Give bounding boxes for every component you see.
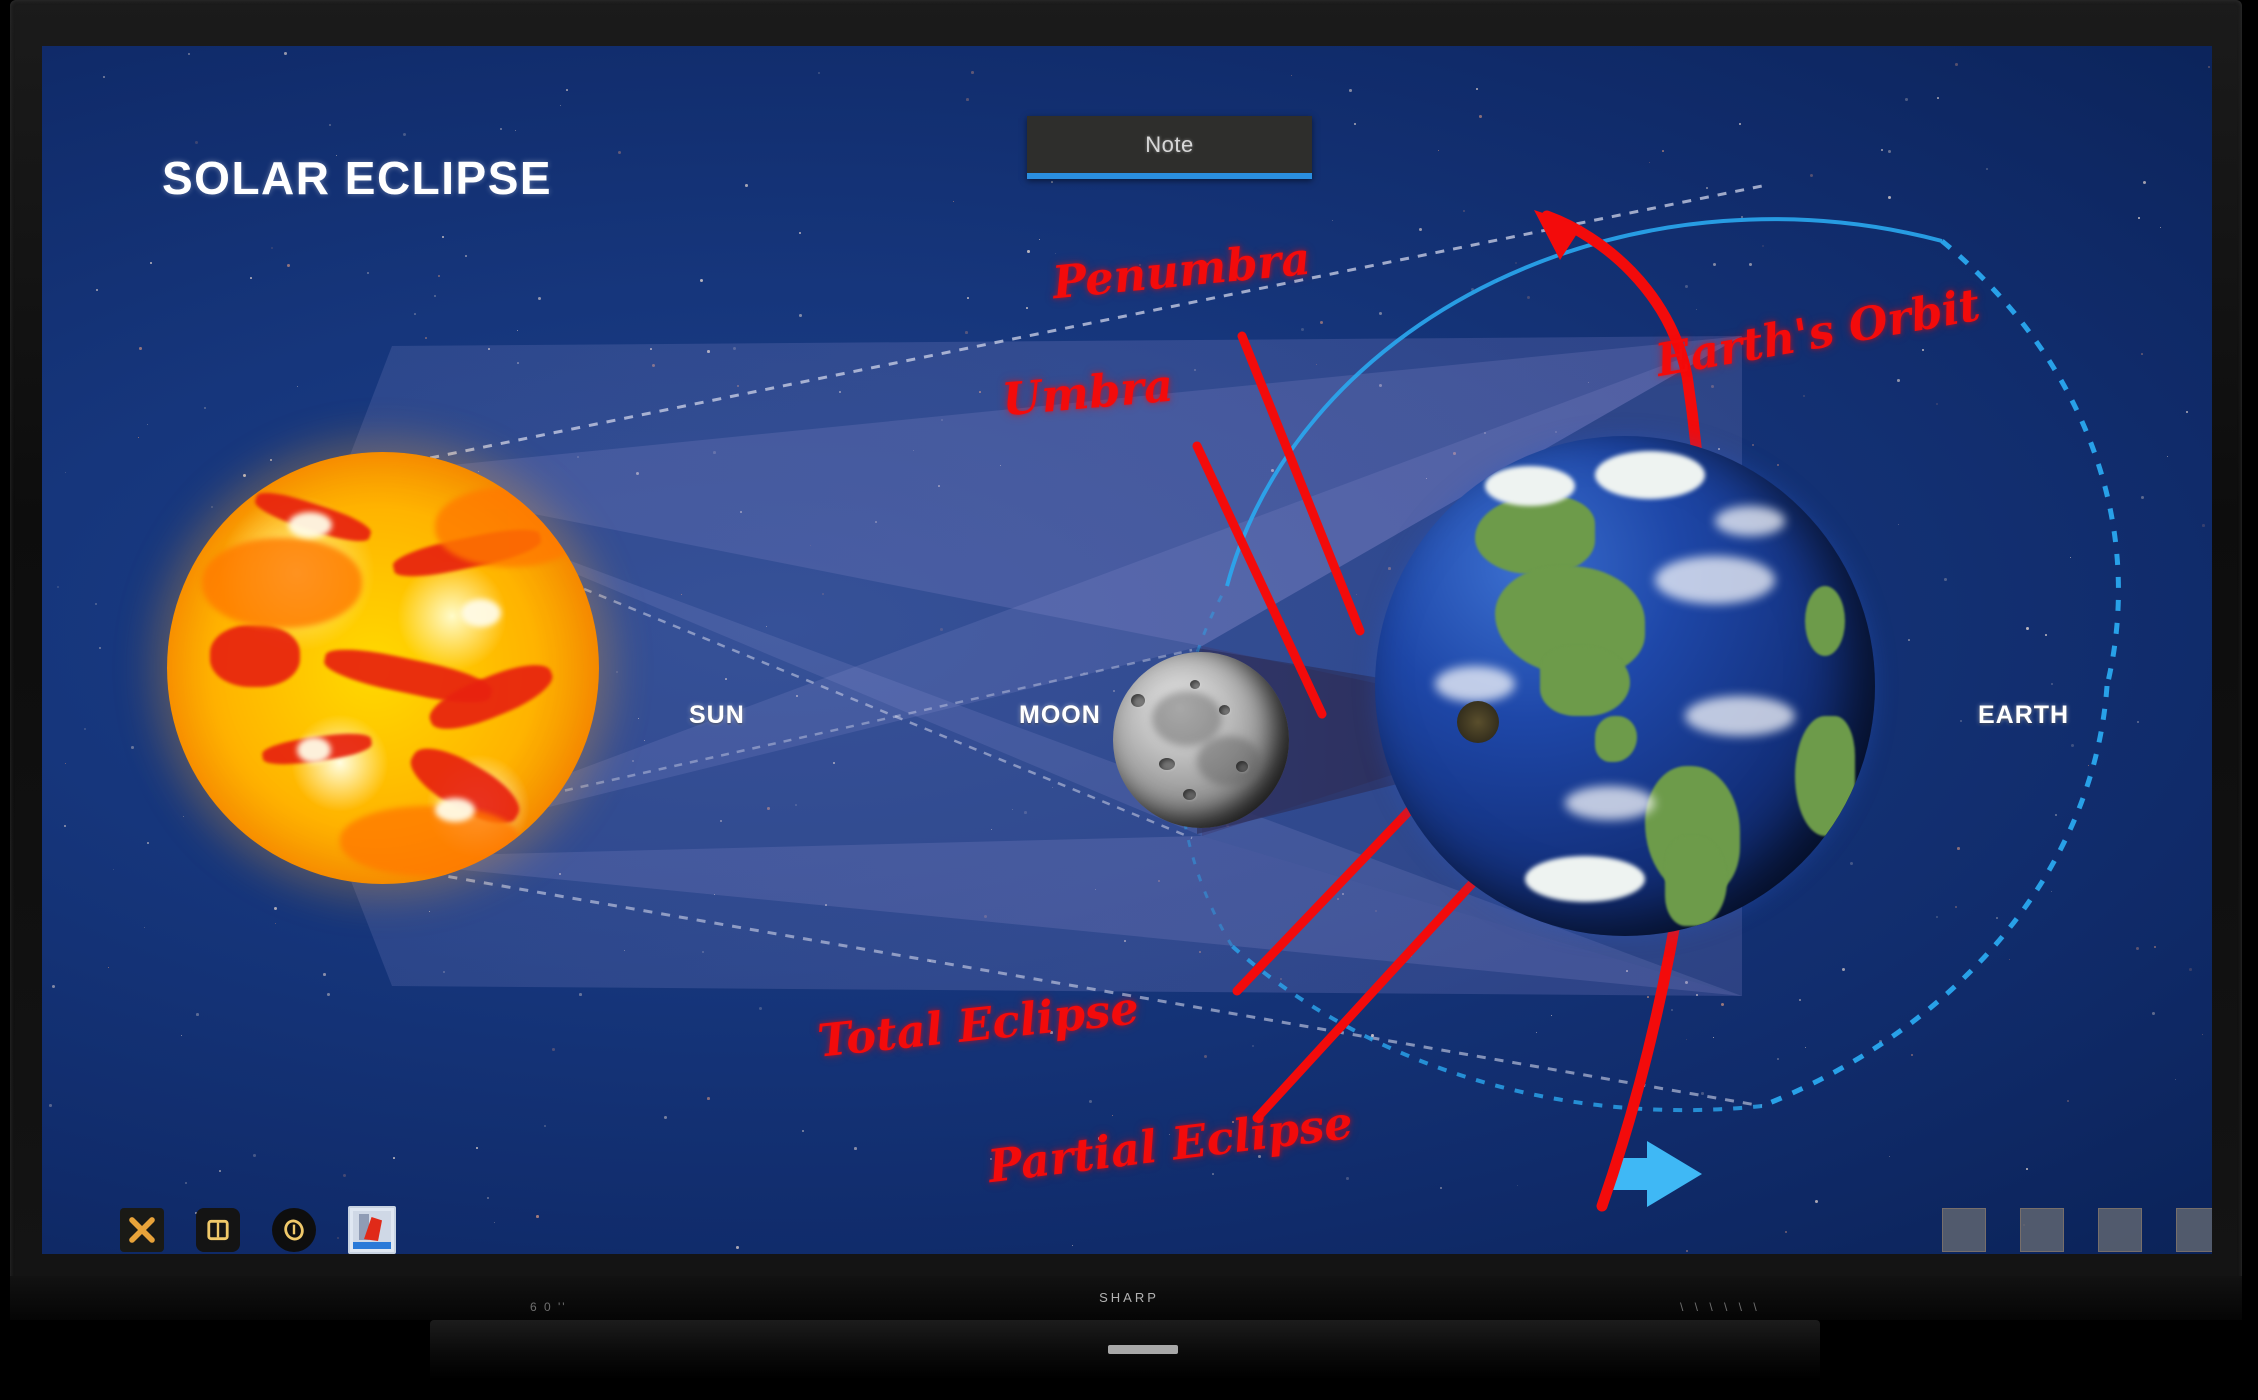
screen-canvas[interactable]: SUN MOON EARTH SOLAR ECLIPSE Note Penumb… [42,46,2212,1254]
bezel-left-markings: 6 0 '' [530,1300,567,1314]
label-earth: EARTH [1978,701,2069,730]
pen-eraser-glyph [281,1217,307,1243]
blank-square-icon-2[interactable] [2020,1208,2064,1252]
note-button[interactable]: Note [1027,116,1312,179]
sun-graphic [167,452,599,884]
page-title: SOLAR ECLIPSE [162,151,552,205]
moon-graphic [1113,652,1289,828]
label-sun: SUN [689,701,745,730]
image-thumbnail-icon[interactable] [348,1206,396,1254]
label-moon: MOON [1019,701,1101,730]
brand-logo: SHARP [0,1290,2258,1320]
bezel-right-markings: \ \ \ \ \ \ [1680,1300,1761,1314]
note-button-label: Note [1145,132,1193,158]
blank-square-icon-4[interactable] [2176,1208,2212,1252]
close-x-icon[interactable] [120,1208,164,1252]
book-glyph [205,1217,231,1243]
bottom-right-toolbar [1942,1208,2212,1252]
blank-square-icon-1[interactable] [1942,1208,1986,1252]
close-x-glyph [127,1215,157,1245]
pen-eraser-icon[interactable] [272,1208,316,1252]
status-led [1108,1345,1178,1354]
umbra-contact-spot [1457,701,1499,743]
earth-graphic [1375,436,1875,936]
bottom-left-toolbar [120,1206,396,1254]
book-icon[interactable] [196,1208,240,1252]
blank-square-icon-3[interactable] [2098,1208,2142,1252]
interactive-flat-panel-display: SHARP 6 0 '' \ \ \ \ \ \ [0,0,2258,1400]
